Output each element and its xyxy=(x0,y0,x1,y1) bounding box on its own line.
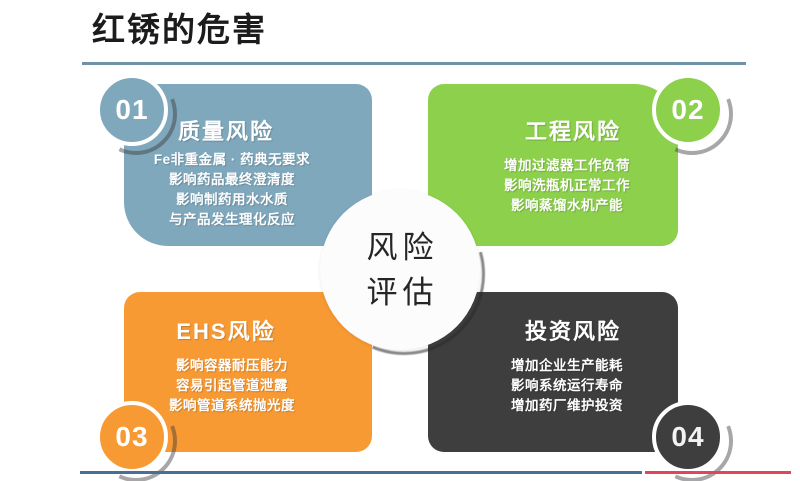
panel-quality-line-1: Fe非重金属 · 药典无要求 xyxy=(124,150,356,170)
panel-engineering-line-3: 影响蒸馏水机产能 xyxy=(442,196,678,216)
center-label-line-2: 评估 xyxy=(362,270,439,315)
panel-investment-line-3: 增加药厂维护投资 xyxy=(442,396,678,416)
badge-03[interactable]: 03 xyxy=(96,401,168,473)
slide-canvas: 红锈的危害 质量风险 Fe非重金属 · 药典无要求 影响药品最终澄清度 影响制药… xyxy=(0,0,800,481)
panel-engineering-line-1: 增加过滤器工作负荷 xyxy=(442,156,678,176)
panel-investment-title: 投资风险 xyxy=(448,314,678,346)
panel-engineering-lines: 增加过滤器工作负荷 影响洗瓶机正常工作 影响蒸馏水机产能 xyxy=(442,156,678,216)
panel-quality-line-4: 与产品发生理化反应 xyxy=(124,210,356,230)
page-title: 红锈的危害 xyxy=(92,8,267,52)
center-circle-risk-assessment: 风险 评估 xyxy=(320,190,480,350)
footer-divider-blue xyxy=(80,471,642,474)
panel-ehs-line-2: 容易引起管道泄露 xyxy=(124,376,356,396)
panel-investment-lines: 增加企业生产能耗 影响系统运行寿命 增加药厂维护投资 xyxy=(442,356,678,416)
panel-engineering-title: 工程风险 xyxy=(448,114,678,146)
badge-04[interactable]: 04 xyxy=(652,401,724,473)
panel-ehs-line-1: 影响容器耐压能力 xyxy=(124,356,356,376)
badge-02[interactable]: 02 xyxy=(652,74,724,146)
header-divider xyxy=(82,62,746,65)
badge-01[interactable]: 01 xyxy=(96,74,168,146)
panel-engineering-risk[interactable]: 工程风险 增加过滤器工作负荷 影响洗瓶机正常工作 影响蒸馏水机产能 xyxy=(428,84,678,246)
panel-quality-line-3: 影响制药用水水质 xyxy=(124,190,356,210)
center-label-line-1: 风险 xyxy=(362,225,439,270)
panel-investment-line-2: 影响系统运行寿命 xyxy=(442,376,678,396)
footer-divider-red xyxy=(645,471,791,474)
panel-engineering-line-2: 影响洗瓶机正常工作 xyxy=(442,176,678,196)
panel-ehs-title: EHS风险 xyxy=(124,314,350,346)
panel-quality-lines: Fe非重金属 · 药典无要求 影响药品最终澄清度 影响制药用水水质 与产品发生理… xyxy=(124,150,356,230)
panel-ehs-lines: 影响容器耐压能力 容易引起管道泄露 影响管道系统抛光度 xyxy=(124,356,356,416)
panel-quality-line-2: 影响药品最终澄清度 xyxy=(124,170,356,190)
panel-investment-line-1: 增加企业生产能耗 xyxy=(442,356,678,376)
